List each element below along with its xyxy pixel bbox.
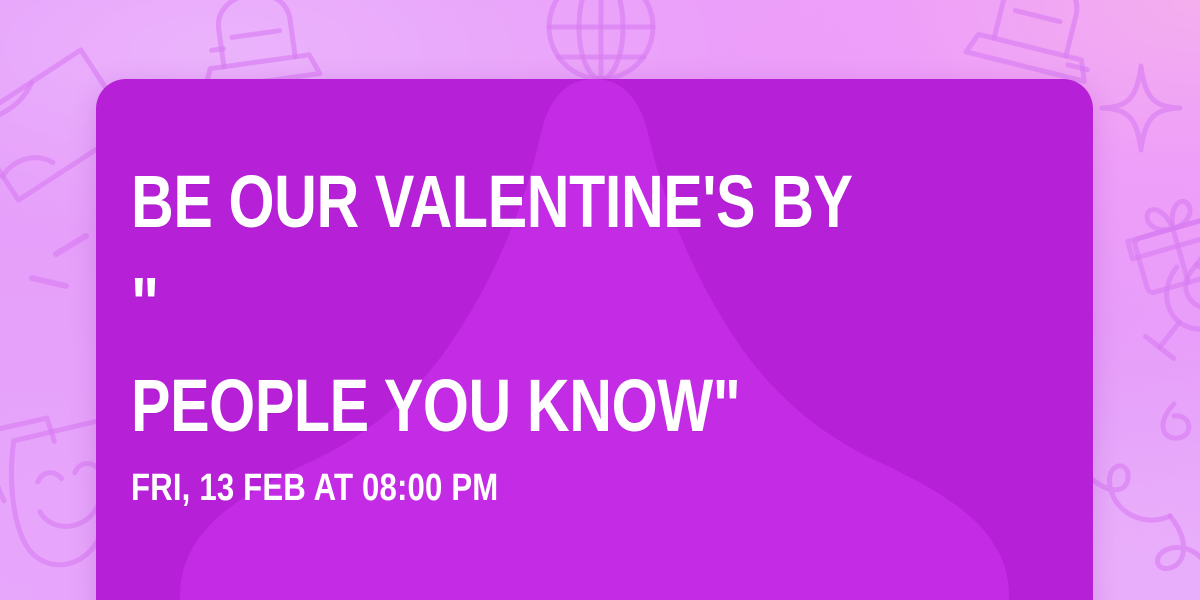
- event-banner: BE OUR VALENTINE'S BY " PEOPLE YOU KNOW"…: [0, 0, 1200, 600]
- event-title: BE OUR VALENTINE'S BY " PEOPLE YOU KNOW": [131, 151, 869, 457]
- card-content: BE OUR VALENTINE'S BY " PEOPLE YOU KNOW"…: [131, 79, 1053, 600]
- event-card[interactable]: BE OUR VALENTINE'S BY " PEOPLE YOU KNOW"…: [96, 79, 1093, 600]
- event-date: FRI, 13 FEB AT 08:00 PM: [131, 465, 498, 511]
